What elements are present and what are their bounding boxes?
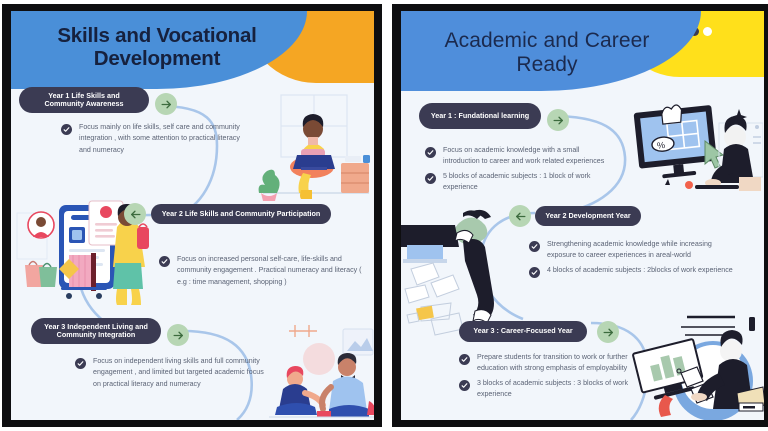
person-with-chart-monitor-illustration (629, 311, 764, 420)
bullet-text: Focus mainly on life skills, self care a… (79, 122, 251, 156)
bullet-item: Strengthening academic knowledge while i… (529, 239, 735, 262)
check-circle-icon (425, 147, 436, 158)
bullet-text: Prepare students for transition to work … (477, 352, 643, 375)
bullet-item: Prepare students for transition to work … (459, 352, 643, 375)
step-2-pill-label: Year 2 Development Year (545, 212, 630, 220)
step-3-pill-label: Year 3 : Career-Focused Year (473, 327, 572, 335)
step-2-bullets: Strengthening academic knowledge while i… (529, 239, 735, 281)
step-3-bullets: Focus on independent living skills and f… (75, 356, 265, 393)
bullet-item: Focus mainly on life skills, self care a… (61, 122, 251, 156)
bullet-text: Focus on independent living skills and f… (93, 356, 265, 390)
slide-2-content: Academic and Career Ready % (401, 11, 764, 420)
step-1-bullets: Focus mainly on life skills, self care a… (61, 122, 251, 159)
step-2-arrow-left-icon (509, 205, 531, 227)
check-circle-icon (529, 267, 540, 278)
page-title: Skills and Vocational Development (21, 25, 293, 71)
white-dot-icon (703, 27, 712, 36)
step-2-pill[interactable]: Year 2 Development Year (535, 206, 641, 226)
two-people-sitting-illustration (269, 323, 374, 419)
bullet-item: 4 blocks of academic subjects : 2blocks … (529, 265, 735, 278)
person-at-monitor-with-cursor-illustration: % (633, 93, 763, 205)
slide-academic-career: Academic and Career Ready % (392, 4, 768, 427)
step-1-bullets: Focus on academic knowledge with a small… (425, 145, 617, 197)
bullet-item: 5 blocks of academic subjects : 1 block … (425, 171, 617, 194)
svg-text:%: % (657, 140, 666, 151)
step-2-arrow-left-icon (124, 203, 146, 225)
check-circle-icon (159, 256, 170, 267)
step-1-arrow-right-icon (547, 109, 569, 131)
check-circle-icon (459, 354, 470, 365)
bullet-text: 5 blocks of academic subjects : 1 block … (443, 171, 617, 194)
check-circle-icon (529, 241, 540, 252)
bullet-text: 4 blocks of academic subjects : 2blocks … (547, 265, 733, 276)
bullet-item: 3 blocks of academic subjects : 3 blocks… (459, 378, 643, 401)
bullet-item: Focus on independent living skills and f… (75, 356, 265, 390)
step-2-pill-label: Year 2 Life Skills and Community Partici… (162, 210, 321, 218)
check-circle-icon (459, 380, 470, 391)
bullet-text: Focus on academic knowledge with a small… (443, 145, 617, 168)
check-circle-icon (75, 358, 86, 369)
woman-with-laptop-on-stool-illustration (257, 93, 373, 205)
step-1-pill[interactable]: Year 1 : Fundational learning (419, 103, 541, 129)
infographic-canvas: Skills and Vocational Development (0, 0, 768, 431)
check-circle-icon (425, 173, 436, 184)
bullet-item: Focus on academic knowledge with a small… (425, 145, 617, 168)
check-circle-icon (61, 124, 72, 135)
step-2-bullets: Focus on increased personal self-care, l… (159, 254, 369, 291)
step-3-pill[interactable]: Year 3 Independent Living and Community … (31, 318, 161, 344)
step-2-pill[interactable]: Year 2 Life Skills and Community Partici… (151, 204, 331, 224)
step-3-arrow-right-icon (167, 324, 189, 346)
page-title: Academic and Career Ready (411, 29, 683, 76)
step-3-pill-label: Year 3 Independent Living and Community … (40, 323, 152, 340)
bullet-text: Focus on increased personal self-care, l… (177, 254, 369, 288)
step-1-pill-label: Year 1 Life Skills and Community Awarene… (28, 92, 140, 109)
step-1-pill[interactable]: Year 1 Life Skills and Community Awarene… (19, 87, 149, 113)
step-1-pill-label: Year 1 : Fundational learning (431, 112, 529, 120)
step-3-arrow-right-icon (597, 321, 619, 343)
step-1-arrow-right-icon (155, 93, 177, 115)
bullet-text: Strengthening academic knowledge while i… (547, 239, 735, 262)
bullet-text: 3 blocks of academic subjects : 3 blocks… (477, 378, 643, 401)
bullet-item: Focus on increased personal self-care, l… (159, 254, 369, 288)
slide-1-content: Skills and Vocational Development (11, 11, 374, 420)
step-3-pill[interactable]: Year 3 : Career-Focused Year (459, 321, 587, 342)
slide-skills-vocational: Skills and Vocational Development (2, 4, 382, 427)
step-3-bullets: Prepare students for transition to work … (459, 352, 643, 404)
